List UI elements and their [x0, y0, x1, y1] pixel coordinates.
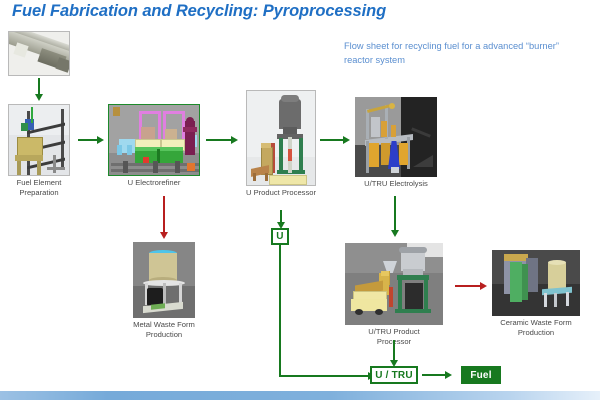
node-u-tru-electrolysis[interactable]: U/TRU Electrolysis	[355, 97, 437, 177]
node-u-product-processor[interactable]: U Product Processor	[246, 90, 316, 186]
tag-u-tru[interactable]: U / TRU	[370, 366, 418, 384]
cad-u-electrorefiner	[108, 104, 200, 176]
page-title: Fuel Fabrication and Recycling: Pyroproc…	[12, 2, 386, 21]
tag-u[interactable]: U	[271, 228, 289, 245]
caption-metal-waste-form-production: Metal Waste Form Production	[119, 320, 209, 339]
cad-u-tru-product-processor	[345, 243, 443, 325]
caption-u-product-processor: U Product Processor	[237, 188, 325, 198]
node-ceramic-waste-form-production[interactable]: Ceramic Waste Form Production	[492, 250, 580, 316]
node-metal-waste-form-production[interactable]: Metal Waste Form Production	[133, 242, 195, 318]
cad-fuel-element-preparation	[8, 104, 70, 176]
slide-canvas: Fuel Fabrication and Recycling: Pyroproc…	[0, 0, 600, 400]
node-fuel-element-preparation[interactable]: Fuel Element Preparation	[8, 104, 70, 176]
caption-fuel-element-preparation: Fuel Element Preparation	[2, 178, 76, 197]
node-u-tru-product-processor[interactable]: U/TRU Product Processor	[345, 243, 443, 325]
cad-ceramic-waste-form	[492, 250, 580, 316]
caption-ceramic-waste-form-production: Ceramic Waste Form Production	[489, 318, 583, 337]
tag-fuel[interactable]: Fuel	[461, 366, 501, 384]
photo-fuel-rod	[8, 31, 70, 76]
flow-sheet-note: Flow sheet for recycling fuel for a adva…	[344, 40, 580, 67]
cad-u-product-processor	[246, 90, 316, 186]
node-u-electrorefiner[interactable]: U Electrorefiner	[108, 104, 200, 176]
caption-u-tru-electrolysis: U/TRU Electrolysis	[352, 179, 440, 189]
cad-u-tru-electrolysis	[355, 97, 437, 177]
footer-bar	[0, 391, 600, 400]
caption-u-electrorefiner: U Electrorefiner	[114, 178, 194, 188]
node-spent-fuel-rod[interactable]	[8, 31, 70, 76]
cad-metal-waste-form	[133, 242, 195, 318]
